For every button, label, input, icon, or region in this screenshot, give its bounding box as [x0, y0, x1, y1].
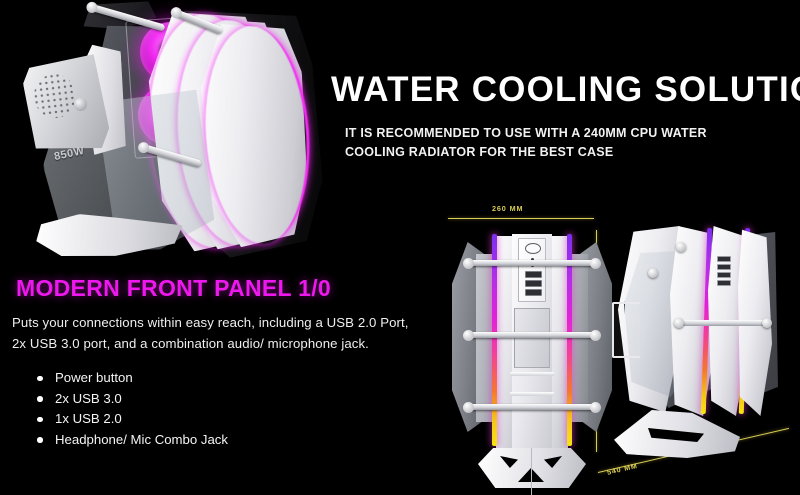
front-panel-heading: MODERN FRONT PANEL 1/0 — [16, 275, 331, 302]
hero-product-image: 850W — [0, 0, 330, 265]
usb-port-icon-1 — [525, 271, 542, 278]
side-view-base-foot — [614, 410, 740, 458]
side-io-port-4 — [717, 280, 731, 286]
side-view-io-ports — [716, 252, 732, 288]
side-foot-cutout — [648, 428, 704, 442]
list-item: Power button — [34, 368, 228, 389]
headline-subtitle: IT IS RECOMMENDED TO USE WITH A 240MM CP… — [345, 124, 755, 162]
list-item: 1x USB 2.0 — [34, 409, 228, 430]
side-view-knob-1 — [676, 242, 686, 252]
dimension-diagrams: 260 MM 570 MM 540 MM — [430, 200, 800, 495]
front-view-center-seam — [531, 448, 532, 495]
side-io-port-2 — [717, 264, 731, 270]
side-view-rear-bracket — [612, 302, 640, 358]
list-item: Headphone/ Mic Combo Jack — [34, 430, 228, 451]
power-button-icon — [525, 243, 541, 254]
headline-subtitle-line-1: IT IS RECOMMENDED TO USE WITH A 240MM CP… — [345, 124, 755, 143]
front-view-crossbar-bottom — [468, 404, 596, 410]
front-view-diagram — [452, 226, 612, 476]
side-io-port-1 — [717, 256, 731, 262]
dimension-label-width: 260 MM — [492, 204, 523, 213]
side-view-knob-2 — [648, 268, 658, 278]
front-view-crossbar-mid — [468, 332, 596, 338]
psu-knob — [74, 98, 87, 111]
headline-subtitle-line-2: COOLING RADIATOR FOR THE BEST CASE — [345, 143, 755, 162]
dimension-line-width — [448, 218, 594, 219]
front-panel-description: Puts your connections within easy reach,… — [12, 312, 442, 354]
front-view-crossbar-top — [468, 260, 596, 266]
front-panel-description-line-1: Puts your connections within easy reach,… — [12, 312, 442, 333]
base-cutout-1 — [500, 456, 518, 468]
side-io-port-3 — [717, 272, 731, 278]
front-view-shelf-1 — [510, 372, 554, 376]
front-panel-description-line-2: 2x USB 3.0 port, and a combination audio… — [12, 333, 442, 354]
usb-port-icon-2 — [525, 280, 542, 287]
list-item: 2x USB 3.0 — [34, 389, 228, 410]
side-view-knob-4 — [762, 318, 772, 328]
front-io-panel — [518, 238, 546, 302]
page-title: WATER COOLING SOLUTION — [331, 70, 800, 110]
side-view-diagram — [612, 222, 792, 480]
side-view-knob-3 — [674, 318, 684, 328]
usb-port-icon-3 — [525, 289, 542, 296]
base-cutout-2 — [544, 456, 562, 468]
front-view-motherboard-tray — [514, 308, 550, 368]
promo-banner: 850W WATER COOLING SOLUTION IT IS RECOMM… — [0, 0, 800, 495]
front-view-shelf-2 — [510, 392, 554, 396]
front-panel-feature-list: Power button 2x USB 3.0 1x USB 2.0 Headp… — [34, 368, 228, 450]
side-view-support-rod — [678, 320, 766, 326]
